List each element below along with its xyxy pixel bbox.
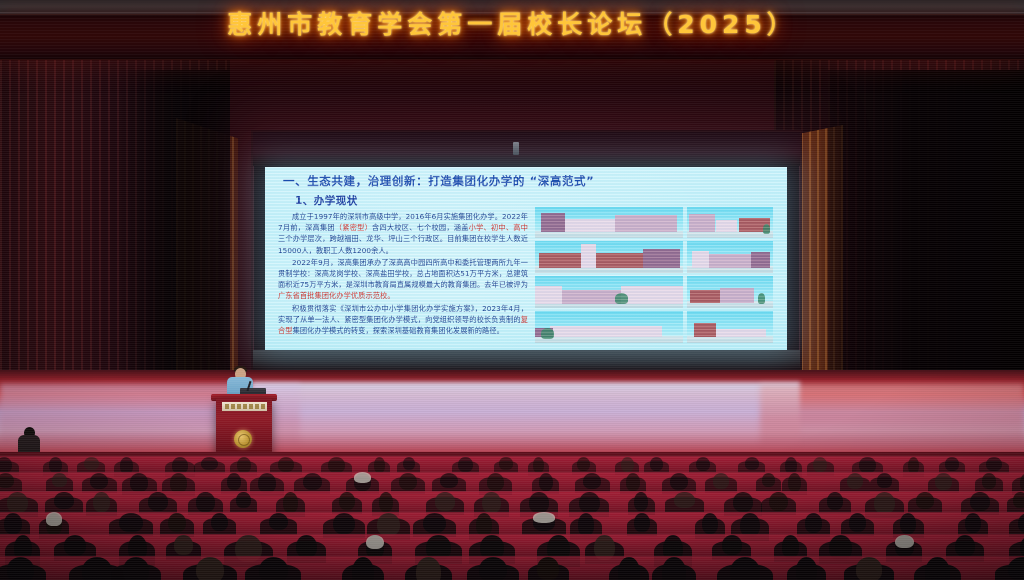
audience-head [722, 535, 743, 555]
audience-head [416, 557, 441, 580]
audience-head [650, 457, 663, 471]
audience-head [733, 492, 753, 512]
audience-head [856, 557, 882, 580]
audience-head [713, 473, 729, 489]
audience-head [925, 557, 950, 580]
campus-photo [535, 207, 683, 238]
slide-title: 一、生态共建，治理创新：打造集团化办学的 “深高范式” [283, 173, 773, 189]
campus-photo [687, 241, 773, 273]
body-text: 积极贯彻落实《深圳市公办中小学集团化办学实施方案》，2023年4月，实现了从单一… [278, 304, 528, 324]
audience-head [479, 557, 506, 580]
audience-head [476, 513, 492, 536]
audience-head [49, 457, 62, 473]
slide-body-text: 成立于1997年的深圳市高级中学，2016年6月实施集团化办学。2022年7月前… [278, 211, 528, 337]
audience-head [259, 557, 288, 580]
audience-head [670, 473, 688, 490]
slide-photo-grid [535, 207, 773, 340]
audience-head [52, 473, 67, 487]
audience-head [211, 513, 228, 531]
audience-head [702, 513, 718, 534]
audience-head [578, 513, 595, 535]
stage-light-pool-right [760, 384, 1024, 444]
audience-head [123, 557, 149, 580]
audience-head [577, 457, 590, 471]
audience-head [168, 513, 186, 532]
audience-head [278, 457, 295, 472]
audience-head [227, 473, 240, 490]
audience-head [877, 473, 893, 488]
audience-head [119, 513, 142, 532]
audience-head [745, 457, 759, 470]
audience-head [236, 492, 250, 508]
audience-head [377, 513, 400, 536]
highlighted-text: 广东省首批集团化办学优质示范校。 [278, 291, 395, 300]
audience-head [1013, 492, 1024, 508]
audience-head [955, 535, 975, 557]
audience-head [626, 473, 640, 491]
audience-head [696, 457, 710, 471]
audience-head [328, 457, 345, 473]
audience-head [269, 513, 288, 530]
audience-head [54, 492, 74, 509]
audience-head [986, 457, 1002, 471]
audience-head [762, 473, 775, 487]
audience-head [374, 457, 386, 473]
audience-head [303, 473, 322, 490]
audience-head [93, 492, 110, 512]
campus-photo [535, 276, 683, 308]
body-text: 2022年9月，深高集团承办了深高高中园四所高中和委托管理两所九年一贯制学校：深… [278, 258, 528, 289]
campus-photo [535, 241, 683, 273]
highlighted-text: （紧密型） [335, 223, 372, 232]
audience-head [196, 492, 214, 512]
audience-cap [895, 535, 914, 549]
body-text: 三个办学层次，跨越福田、龙华、坪山三个行政区。目前集团在校学生人数近15000人… [278, 234, 528, 254]
campus-photo [687, 276, 773, 308]
audience-head [618, 557, 639, 580]
audience-head [827, 492, 844, 510]
audience-head [539, 473, 553, 491]
audience-head [634, 513, 650, 532]
slide-paragraph: 积极贯彻落实《深圳市公办中小学集团化办学实施方案》，2023年4月，实现了从单一… [278, 303, 528, 337]
audience-cap [366, 535, 384, 550]
audience-head [970, 492, 990, 511]
audience-cap [533, 512, 556, 523]
audience-head [537, 557, 559, 580]
audience-head [813, 457, 827, 473]
audience-head [403, 457, 415, 470]
audience-head [174, 535, 192, 555]
body-text: 集团化办学模式的转变，探索深圳基础教育集团化发展新的路径。 [293, 326, 504, 335]
audience-head [258, 473, 276, 493]
audience-head [482, 492, 500, 513]
audience-head [769, 492, 788, 511]
audience-head [583, 473, 601, 489]
audience-head [965, 513, 981, 533]
audience-head [662, 557, 685, 580]
banner-title: 惠州市教育学会第一届校长论坛（2025） [0, 0, 1024, 46]
audience-head [796, 557, 817, 580]
screen-bottom-valance [253, 350, 800, 370]
audience-head [935, 473, 952, 490]
audience-head [499, 457, 512, 470]
audience-head [0, 457, 12, 473]
audience-head [90, 473, 108, 490]
audience-head [847, 473, 863, 489]
audience-head [435, 492, 455, 511]
audience-head [7, 492, 28, 513]
screen-reflection-on-floor [252, 382, 800, 448]
audience-head [579, 492, 600, 513]
audience-head [621, 457, 634, 472]
audience-head [859, 457, 876, 473]
slide-paragraph: 成立于1997年的深圳市高级中学，2016年6月实施集团化办学。2022年7月前… [278, 211, 528, 256]
audience-head [64, 535, 86, 556]
audience-head [788, 473, 801, 492]
screen-mount-bracket-icon [513, 142, 519, 155]
campus-photo [535, 311, 683, 343]
audience-head [379, 492, 393, 512]
audience-head [634, 492, 648, 511]
auditorium-photo: 一、生态共建，治理创新：打造集团化办学的 “深高范式” 1、办学现状 成立于19… [0, 0, 1024, 580]
audience-head [1008, 557, 1024, 580]
slide-paragraph: 2022年9月，深高集团承办了深高高中园四所高中和委托管理两所九年一贯制学校：深… [278, 257, 528, 302]
audience-head [296, 535, 316, 558]
audience-head [196, 557, 224, 580]
audience-cap [354, 472, 371, 483]
audience-head [283, 492, 298, 513]
slide-subtitle: 1、办学现状 [295, 193, 358, 208]
projected-slide: 一、生态共建，治理创新：打造集团化办学的 “深高范式” 1、办学现状 成立于19… [265, 167, 787, 350]
audience-head [237, 457, 251, 474]
audience-head [458, 457, 472, 472]
audience-seating [0, 452, 1024, 580]
audience-head [440, 473, 458, 488]
audience-head [1018, 513, 1024, 533]
audience-head [423, 513, 446, 533]
campus-photo [687, 207, 773, 238]
audience-head [170, 473, 188, 493]
audience-head [533, 457, 544, 473]
campus-photo [687, 311, 773, 343]
highlighted-text: 小学、初中、高中 [469, 223, 528, 232]
audience-head [782, 535, 800, 557]
audience-head [4, 513, 21, 534]
audience-head [82, 557, 111, 580]
audience-head [130, 473, 148, 492]
audience-head [900, 513, 916, 534]
podium-nameplate [222, 402, 267, 411]
audience-head [874, 492, 895, 514]
audience-head [148, 492, 168, 510]
audience-head [201, 457, 218, 470]
audience-head [982, 473, 997, 489]
audience-head [945, 457, 958, 471]
audience-head [339, 492, 355, 510]
audience-head [529, 492, 549, 513]
audience-head [84, 457, 99, 470]
audience-head [730, 557, 759, 580]
audience-cap [46, 512, 62, 525]
audience-head [7, 557, 34, 580]
podium-emblem-icon [234, 430, 252, 448]
audience-head [487, 473, 504, 491]
audience-head [805, 513, 823, 532]
body-text: 含四大校区、七个校园，涵盖 [372, 223, 469, 232]
screen-top-valance [253, 132, 800, 166]
audience-head [399, 473, 417, 490]
audience-head [849, 513, 867, 532]
audience-head [674, 492, 695, 508]
audience-head [333, 513, 355, 534]
audience-head [916, 492, 934, 509]
